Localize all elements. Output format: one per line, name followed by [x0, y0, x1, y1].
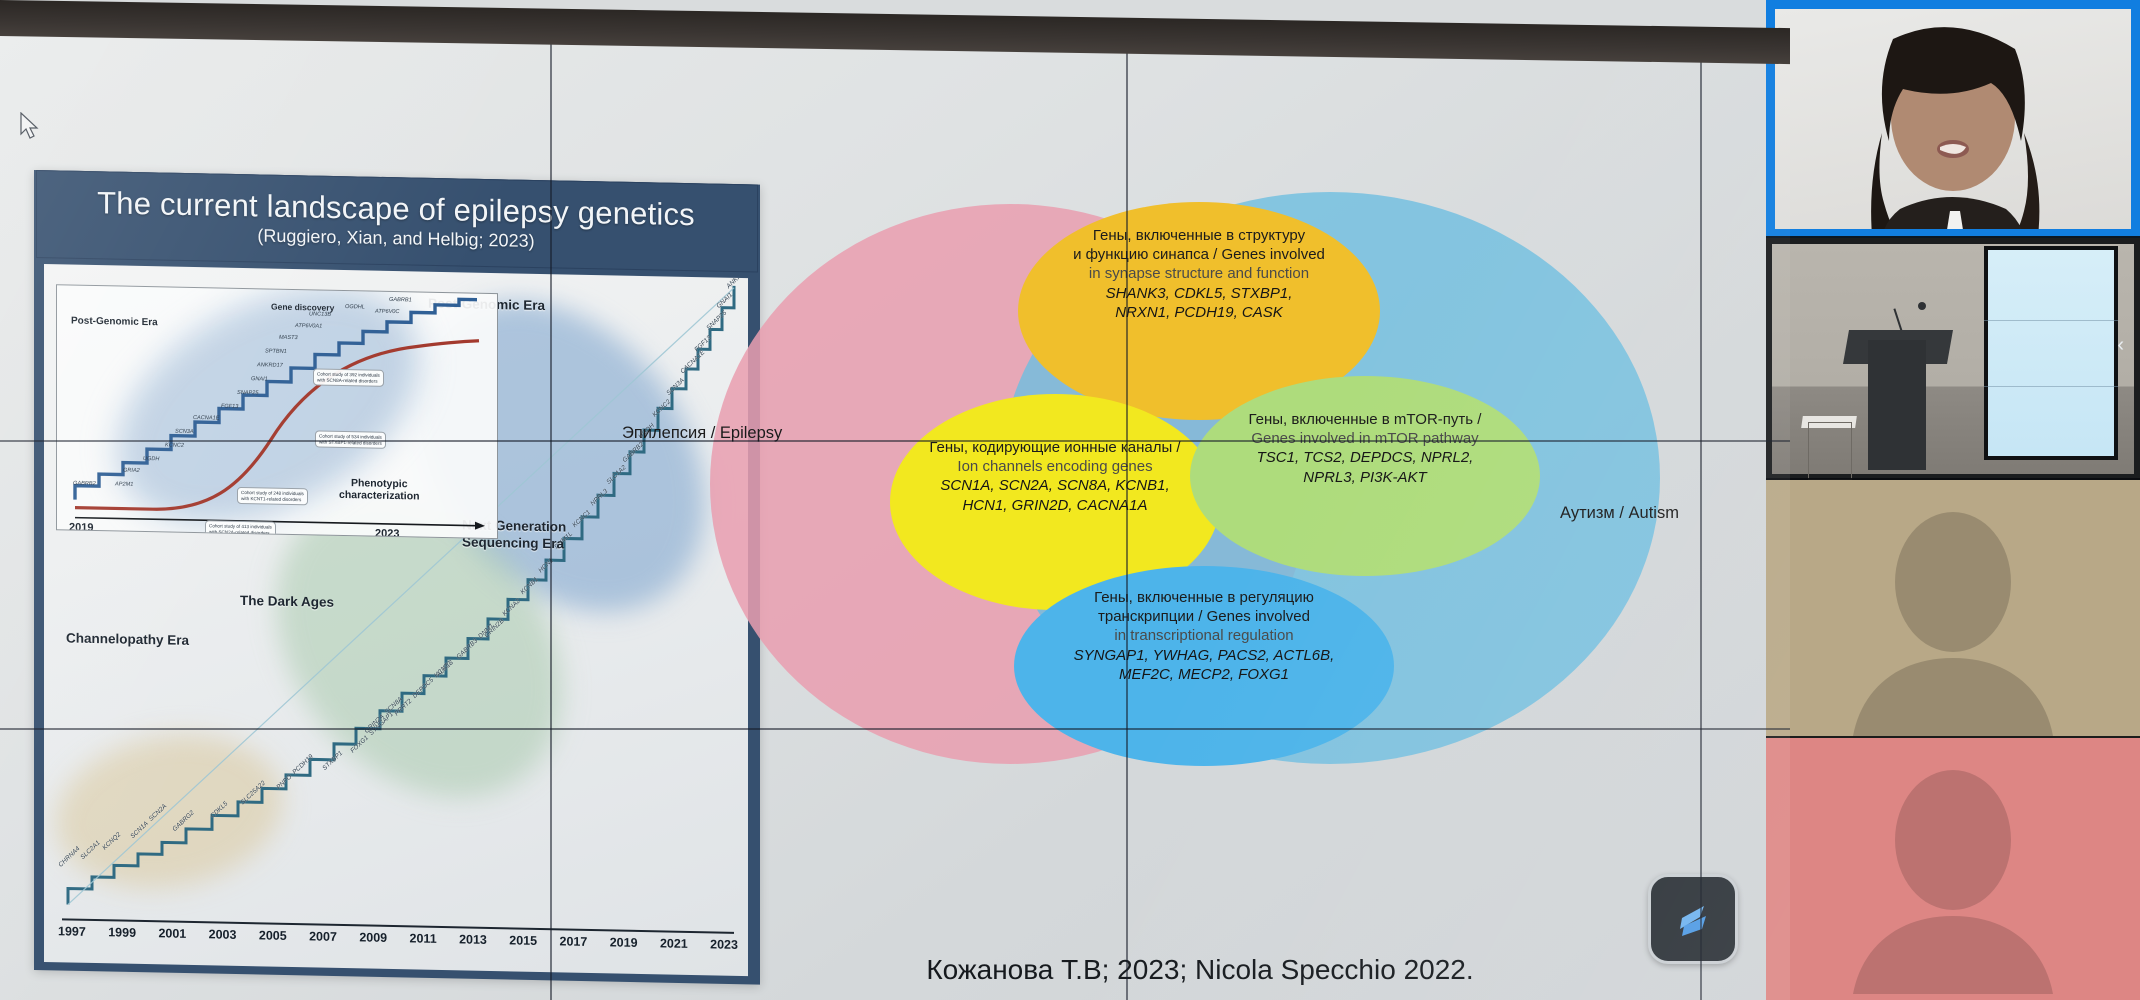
room-camera-video: [1772, 244, 2134, 474]
room-screen-seam-2: [1984, 386, 2118, 387]
venn-subset-transcription-text: Гены, включенные в регуляцию транскрипци…: [1010, 588, 1398, 684]
transcription-title-ru-1: Гены, включенные в регуляцию: [1010, 588, 1398, 607]
mtor-title-ru: Гены, включенные в mTOR-путь /: [1178, 410, 1552, 429]
app-badge-icon[interactable]: [1648, 874, 1738, 964]
transcription-title-en: in transcriptional regulation: [1010, 626, 1398, 645]
synapse-title-ru-2: и функцию синапса / Genes involved: [1018, 245, 1380, 264]
inset-gene-kcnc2: KCNC2: [165, 443, 184, 449]
ion-genes-line2: HCN1, GRIN2D, CACNA1A: [872, 496, 1238, 515]
app-badge-glyph: [1670, 896, 1716, 942]
inset-gene-gnai1: GNAI1: [251, 377, 268, 383]
slide-caption: Кожанова Т.В; 2023; Nicola Specchio 2022…: [700, 954, 1700, 986]
video-conference-rail: ‹: [1766, 0, 2140, 1000]
era-label-dark-ages: The Dark Ages: [240, 593, 334, 610]
inset-gene-gabrb2: GABRB2: [73, 482, 96, 488]
timeline-year-tick: 1999: [108, 925, 136, 950]
inset-gene-ankrd17: ANKRD17: [257, 363, 283, 369]
room-screen-seam-1: [1984, 320, 2118, 321]
transcription-title-ru-2: транскрипции / Genes involved: [1010, 607, 1398, 626]
side-table-legs: [1808, 422, 1852, 480]
synapse-title-en: in synapse structure and function: [1018, 264, 1380, 283]
page-subtitle: (Ruggiero, Xian, and Helbig; 2023): [257, 225, 534, 252]
timeline-year-tick: 2019: [610, 935, 638, 960]
collapse-rail-chevron-left-icon[interactable]: ‹: [2117, 334, 2124, 357]
podium-column: [1868, 340, 1926, 470]
venn-subset-mtor-text: Гены, включенные в mTOR-путь / Genes inv…: [1178, 410, 1552, 487]
epilepsy-gene-timeline-figure: CHRNA4 SLC2A1 KCNQ2 SCN1A SCN2A GABRG2 C…: [44, 264, 748, 976]
inset-gene-scn3a: SCN3A: [175, 430, 194, 436]
venn-label-autism: Аутизм / Autism: [1560, 504, 1679, 523]
inset-gene-mast3: MAST3: [279, 336, 298, 342]
synapse-title-ru-1: Гены, включенные в структуру: [1018, 226, 1380, 245]
post-genomic-inset-chart: Post-Genomic Era Gene discovery Phenotyp…: [56, 284, 498, 539]
inset-gene-gabrb1: GABRB1: [389, 298, 412, 304]
inset-gene-unc13b: UNC13B: [309, 312, 331, 318]
led-wall-screen: CHRNA4 SLC2A1 KCNQ2 SCN1A SCN2A GABRG2 C…: [0, 28, 1790, 1000]
inset-gene-atp6v0c: ATP6V0C: [375, 310, 399, 316]
timeline-year-tick: 2015: [509, 933, 537, 958]
mtor-genes-line2: NPRL3, PI3K-AKT: [1178, 468, 1552, 487]
video-tile-room-camera[interactable]: ‹: [1766, 238, 2140, 480]
timeline-year-tick: 2001: [158, 926, 186, 951]
timeline-year-tick: 2005: [259, 928, 287, 953]
timeline-year-tick: 1997: [58, 924, 86, 949]
inset-gene-gria2: GRIA2: [123, 469, 140, 475]
timeline-year-tick: 2003: [209, 927, 237, 952]
timeline-year-tick: 2017: [560, 934, 588, 959]
inset-label-post-genomic-era: Post-Genomic Era: [71, 316, 158, 329]
timeline-year-tick: 2007: [309, 929, 337, 954]
inset-gene-atp6v0a1: ATP6V0A1: [295, 324, 322, 330]
venn-diagram: Эпилепсия / Epilepsy Аутизм / Autism Ген…: [700, 144, 1700, 844]
synapse-genes-line1: SHANK3, CDKL5, STXBP1,: [1018, 284, 1380, 303]
era-label-channelopathy: Channelopathy Era: [66, 630, 189, 647]
timeline-year-tick: 2011: [410, 931, 437, 956]
video-wall-photo: CHRNA4 SLC2A1 KCNQ2 SCN1A SCN2A GABRG2 C…: [0, 0, 2140, 1000]
person-avatar-icon: [1838, 764, 2068, 994]
inset-gene-ap2m1: AP2M1: [115, 482, 133, 488]
active-speaker-video: [1775, 9, 2131, 229]
synapse-genes-line2: NRXN1, PCDH19, CASK: [1018, 303, 1380, 322]
inset-callout-stxbp1: Cohort study of 534 individuals with STX…: [315, 430, 386, 449]
mtor-title-en: Genes involved in mTOR pathway: [1178, 429, 1552, 448]
transcription-genes-line1: SYNGAP1, YWHAG, PACS2, ACTL6B,: [1010, 646, 1398, 665]
video-tile-active-speaker[interactable]: [1766, 0, 2140, 238]
speaker-person-silhouette: [1838, 21, 2068, 229]
microphone-head-icon: [1918, 302, 1926, 310]
video-tile-participant-2[interactable]: [1766, 738, 2140, 1000]
venn-subset-synapse-text: Гены, включенные в структуру и функцию с…: [1018, 226, 1380, 322]
inset-callout-kcnt1: Cohort study of 248 individuals with KCN…: [237, 487, 308, 506]
inset-gene-ogdhl: OGDHL: [345, 305, 365, 311]
mtor-genes-line1: TSC1, TCS2, DEPDCS, NPRL2,: [1178, 448, 1552, 467]
presentation-slide: CHRNA4 SLC2A1 KCNQ2 SCN1A SCN2A GABRG2 C…: [0, 74, 1790, 994]
page-title: The current landscape of epilepsy geneti…: [97, 185, 695, 233]
room-screen-surface: [1988, 250, 2114, 456]
person-avatar-icon: [1838, 506, 2068, 736]
venn-label-epilepsy: Эпилепсия / Epilepsy: [622, 424, 782, 443]
inset-gene-fgf13: FGF13: [221, 405, 238, 411]
timeline-year-tick: 2013: [459, 932, 487, 957]
timeline-year-tick: 2009: [359, 930, 387, 955]
inset-gene-snap25: SNAP25: [237, 391, 258, 397]
inset-gene-ugdh: UGDH: [143, 457, 159, 463]
video-tile-participant-1[interactable]: [1766, 480, 2140, 738]
inset-gene-cacna1e: CACNA1E: [193, 416, 219, 422]
inset-gene-sptbn1: SPTBN1: [265, 349, 287, 355]
inset-callout-scn8a: Cohort study of 392 individuals with SCN…: [313, 368, 384, 387]
inset-label-phenotypic-characterization: Phenotypic characterization: [339, 477, 420, 503]
mouse-cursor: [20, 112, 42, 142]
timeline-year-tick: 2021: [660, 936, 688, 961]
transcription-genes-line2: MEF2C, MECP2, FOXG1: [1010, 665, 1398, 684]
slide-title-block: The current landscape of epilepsy geneti…: [36, 170, 756, 270]
room-projection-screen: [1984, 246, 2118, 460]
